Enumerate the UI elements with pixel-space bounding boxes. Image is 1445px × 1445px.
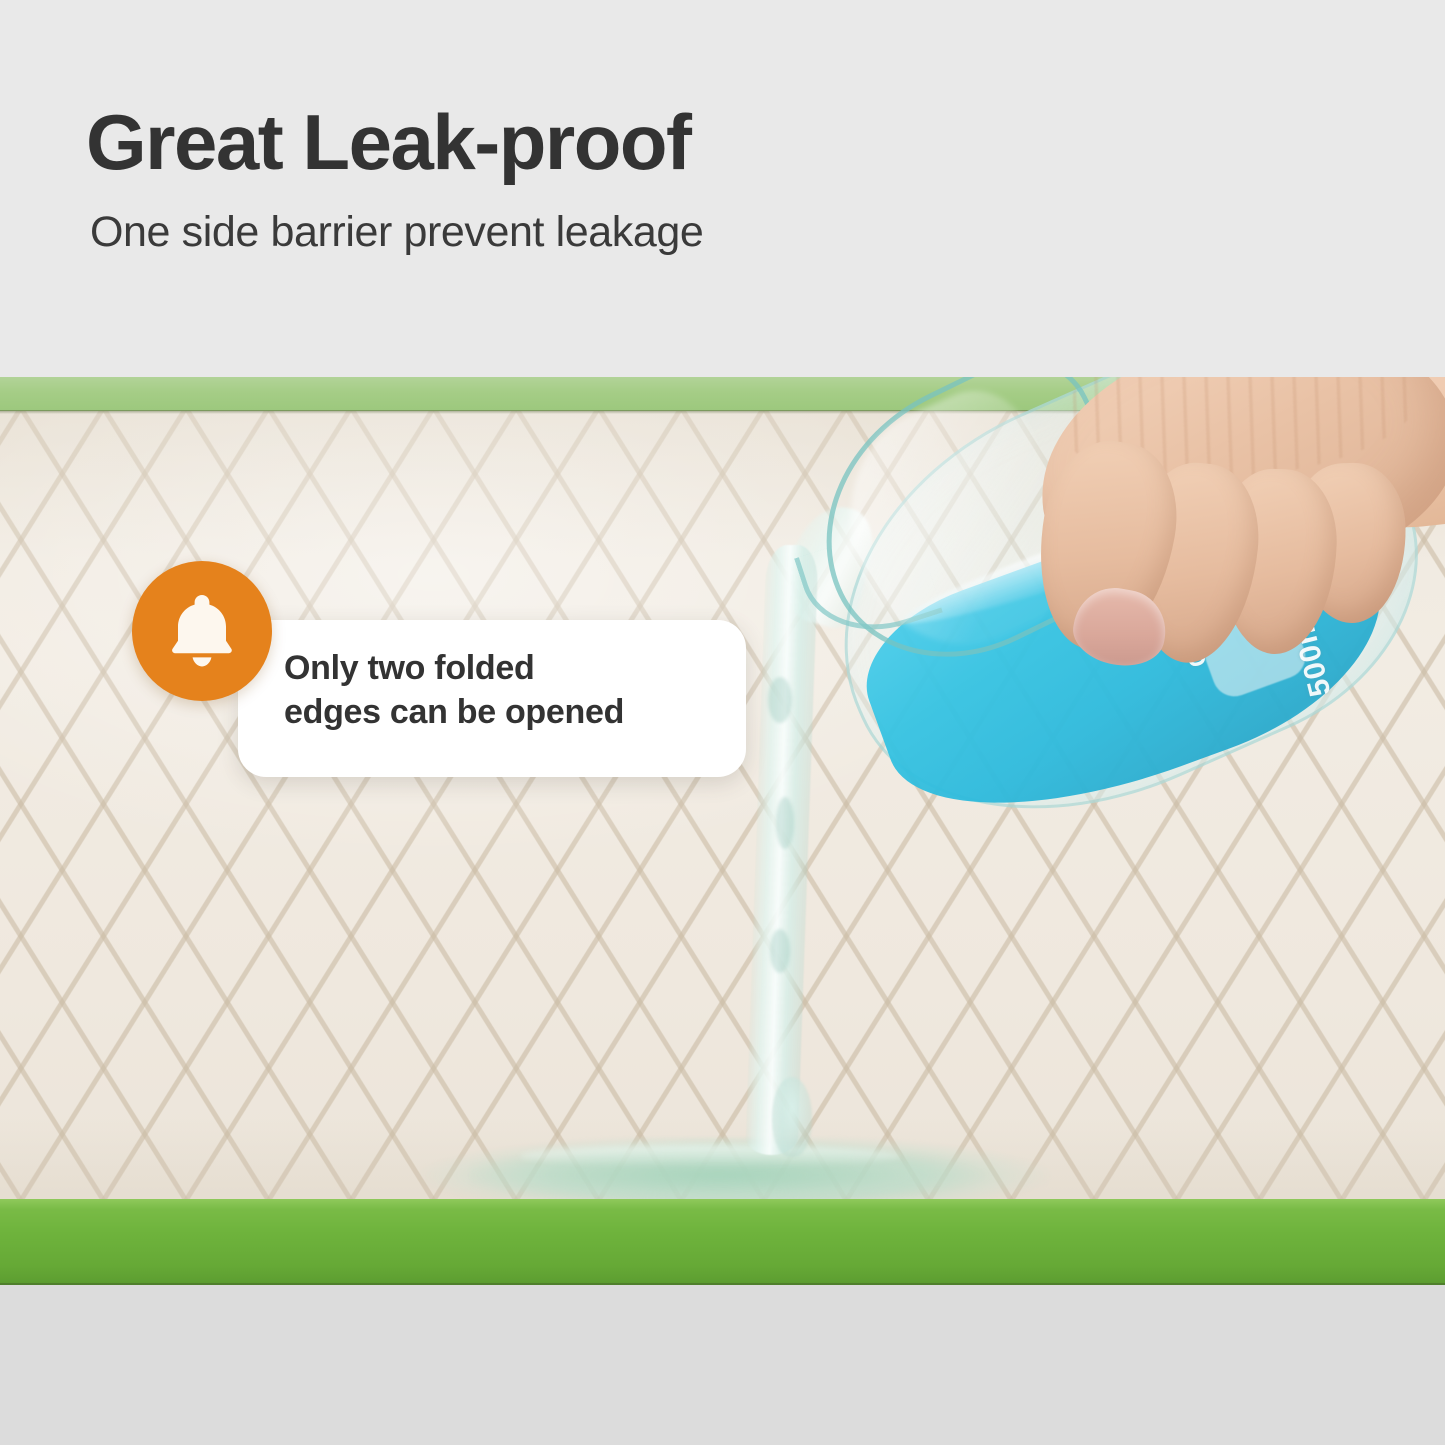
hand [888,377,1445,717]
callout-card: Only two folded edges can be opened [238,620,746,777]
product-photo: 500 APPROX 300 200 100 GG-17 500ml [0,377,1445,1285]
bell-icon [166,592,238,670]
callout-text-line-2: edges can be opened [284,690,714,734]
page-title: Great Leak-proof [86,103,690,181]
stream-ripple [776,797,794,849]
callout-text: Only two folded edges can be opened [284,646,714,734]
stream-ripple [770,929,790,973]
liquid-puddle-sheen [520,1145,900,1167]
footer-background [0,1285,1445,1445]
stream-ripple [768,677,792,723]
callout-text-line-1: Only two folded [284,646,714,690]
page-subtitle: One side barrier prevent leakage [90,208,703,257]
product-feature-image: Great Leak-proof One side barrier preven… [0,0,1445,1445]
pad-bottom-green-barrier [0,1199,1445,1285]
water-droplet [772,1077,812,1157]
callout-badge [132,561,272,701]
